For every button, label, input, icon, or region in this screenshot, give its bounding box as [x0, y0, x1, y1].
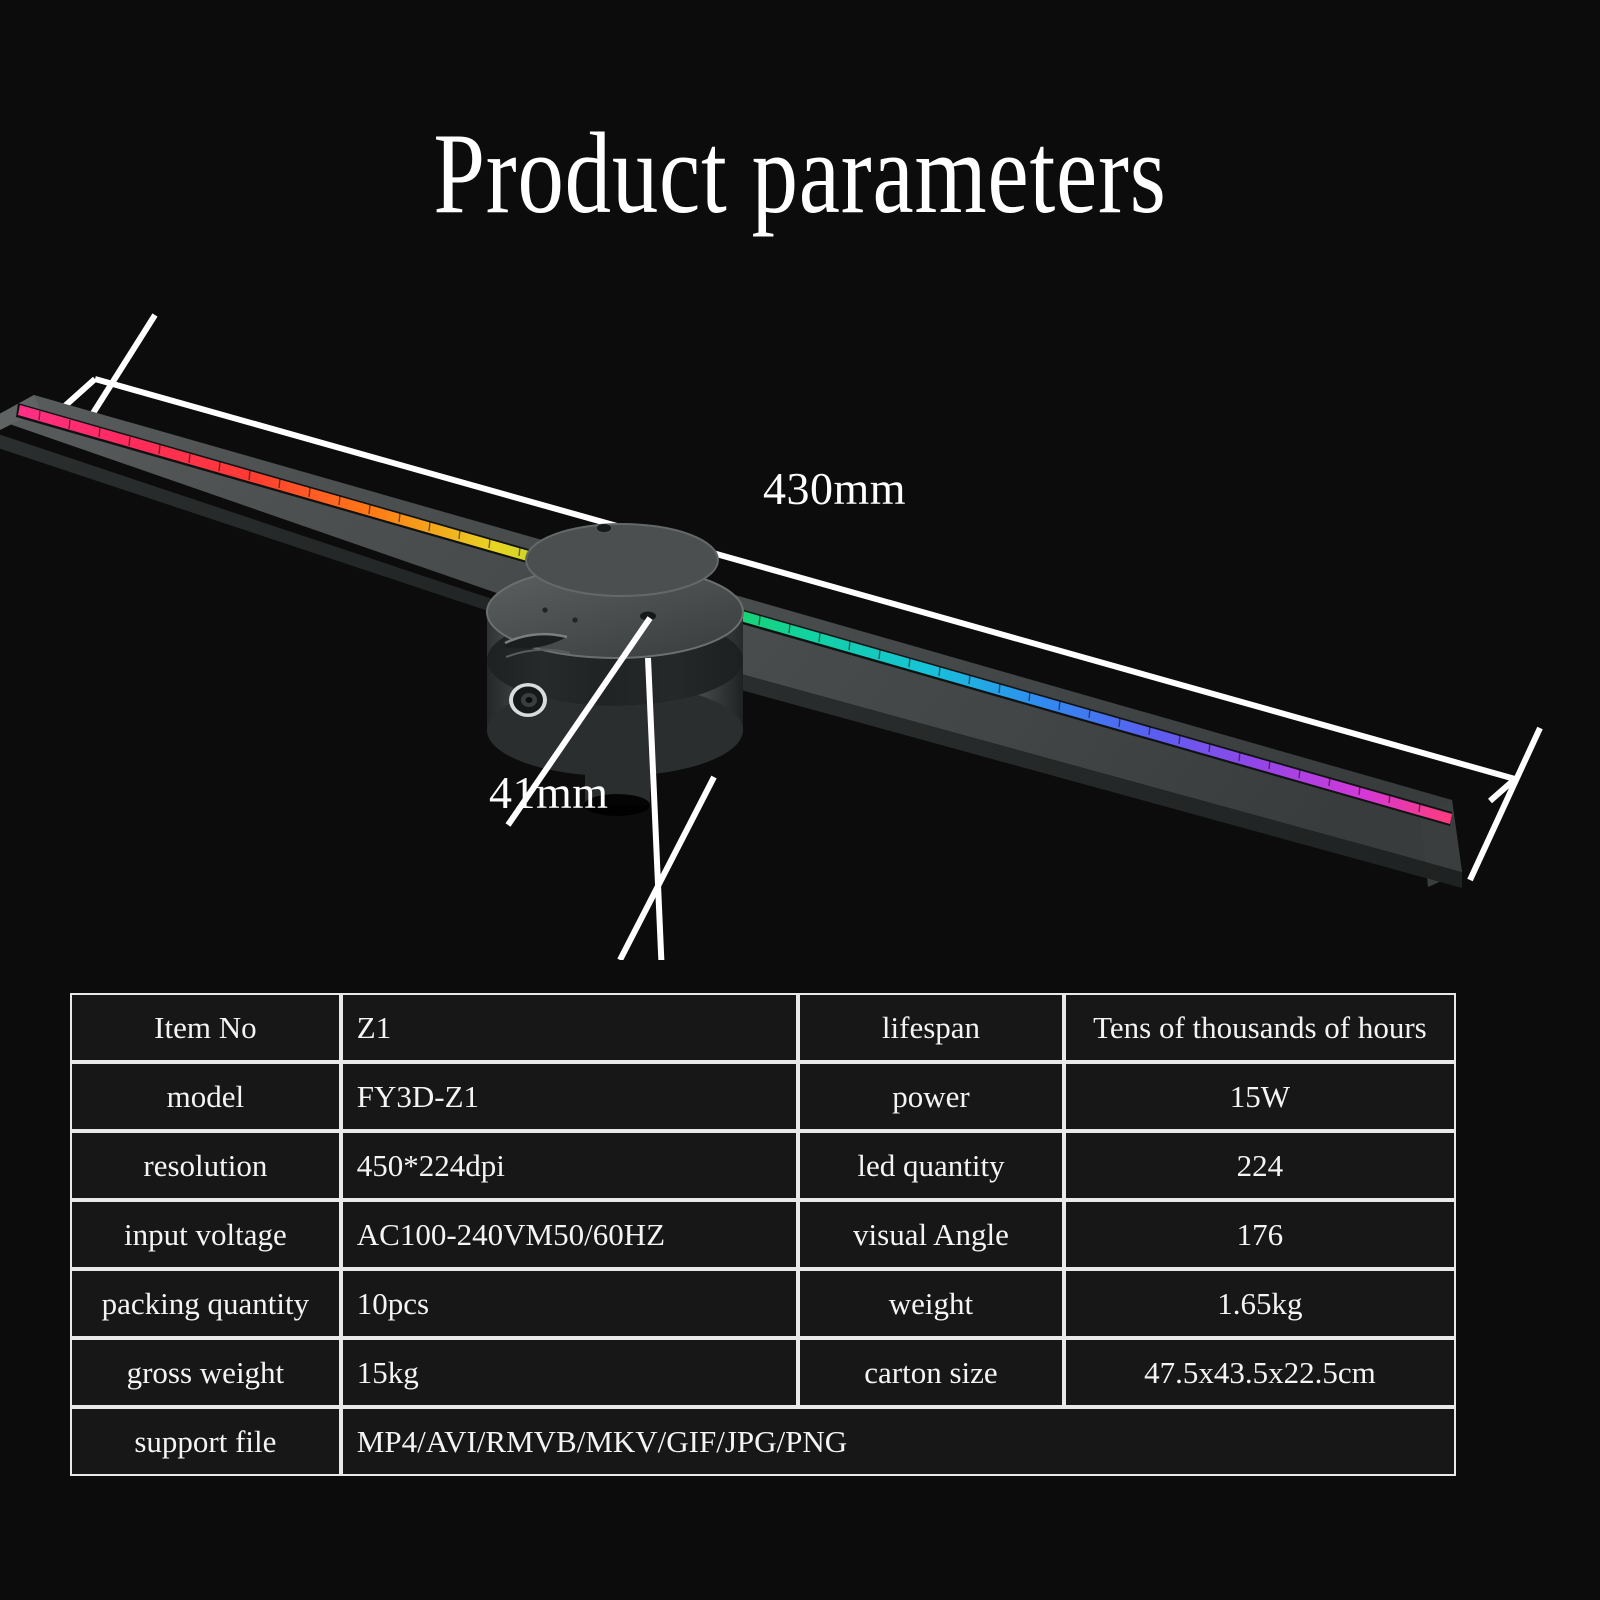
- spec-key-right: weight: [798, 1269, 1064, 1338]
- spec-key: model: [70, 1062, 341, 1131]
- spec-key: gross weight: [70, 1338, 341, 1407]
- spec-value-right: 224: [1064, 1131, 1456, 1200]
- spec-value: AC100-240VM50/60HZ: [341, 1200, 798, 1269]
- product-parameters-page: Product parameters: [0, 0, 1600, 1600]
- spec-key: Item No: [70, 993, 341, 1062]
- table-row-support-file: support file MP4/AVI/RMVB/MKV/GIF/JPG/PN…: [70, 1407, 1456, 1476]
- table-row: gross weight 15kg carton size 47.5x43.5x…: [70, 1338, 1456, 1407]
- spec-value-right: 15W: [1064, 1062, 1456, 1131]
- spec-key: packing quantity: [70, 1269, 341, 1338]
- table-row: model FY3D-Z1 power 15W: [70, 1062, 1456, 1131]
- table-row: packing quantity 10pcs weight 1.65kg: [70, 1269, 1456, 1338]
- spec-key: support file: [70, 1407, 341, 1476]
- spec-key-right: lifespan: [798, 993, 1064, 1062]
- spec-value: FY3D-Z1: [341, 1062, 798, 1131]
- hologram-fan-svg: [0, 260, 1600, 960]
- spec-key-right: visual Angle: [798, 1200, 1064, 1269]
- table-row: resolution 450*224dpi led quantity 224: [70, 1131, 1456, 1200]
- spec-value-right: 1.65kg: [1064, 1269, 1456, 1338]
- spec-key: input voltage: [70, 1200, 341, 1269]
- spec-value: 15kg: [341, 1338, 798, 1407]
- dimension-label-430mm: 430mm: [763, 462, 906, 515]
- spec-value-right: 176: [1064, 1200, 1456, 1269]
- spec-value: Z1: [341, 993, 798, 1062]
- table-row: input voltage AC100-240VM50/60HZ visual …: [70, 1200, 1456, 1269]
- spec-value: 10pcs: [341, 1269, 798, 1338]
- table-row: Item No Z1 lifespan Tens of thousands of…: [70, 993, 1456, 1062]
- fan-blade-right: [690, 585, 1462, 888]
- spec-key-right: power: [798, 1062, 1064, 1131]
- spec-value-right: Tens of thousands of hours: [1064, 993, 1456, 1062]
- spec-value-right: 47.5x43.5x22.5cm: [1064, 1338, 1456, 1407]
- spec-value: MP4/AVI/RMVB/MKV/GIF/JPG/PNG: [341, 1407, 1456, 1476]
- product-illustration: [0, 260, 1600, 960]
- power-jack: [509, 683, 547, 717]
- spec-table-body: Item No Z1 lifespan Tens of thousands of…: [70, 993, 1456, 1476]
- page-title: Product parameters: [160, 116, 1440, 232]
- spec-key-right: carton size: [798, 1338, 1064, 1407]
- spec-key-right: led quantity: [798, 1131, 1064, 1200]
- spec-key: resolution: [70, 1131, 341, 1200]
- dimension-label-41mm: 41mm: [489, 766, 609, 819]
- spec-value: 450*224dpi: [341, 1131, 798, 1200]
- spec-table: Item No Z1 lifespan Tens of thousands of…: [70, 993, 1456, 1476]
